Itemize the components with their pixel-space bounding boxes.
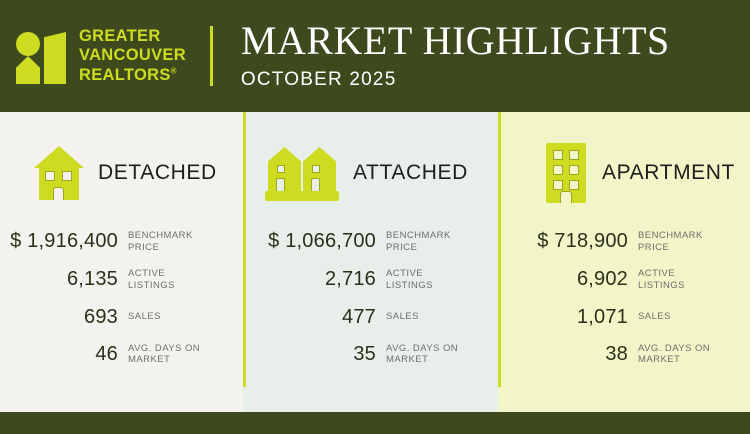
apartment-window	[569, 180, 579, 190]
stat-label: ACTIVE LISTINGS	[386, 268, 481, 292]
apartment-building-icon	[544, 143, 588, 203]
stat-value: 1,071	[498, 306, 638, 329]
stat-row: 35 AVG. DAYS ON MARKET	[243, 343, 498, 367]
panel-attached: ATTACHED $ 1,066,700 BENCHMARK PRICE 2,7…	[243, 112, 498, 412]
market-highlights-infographic: GREATER VANCOUVER REALTORS® MARKET HIGHL…	[0, 0, 750, 434]
stat-label: SALES	[386, 311, 481, 323]
logo-realtors-text: REALTORS	[79, 66, 171, 84]
townhouse-icon	[265, 145, 339, 201]
stat-row: 6,135 ACTIVE LISTINGS	[0, 268, 243, 292]
townhouse-door-left	[276, 178, 285, 192]
panel-apartment-header: APARTMENT	[498, 142, 750, 204]
stat-row: 46 AVG. DAYS ON MARKET	[0, 343, 243, 367]
townhouse-door-right	[311, 178, 320, 192]
stat-value: 35	[251, 343, 386, 366]
logo-line-greater: GREATER	[79, 27, 186, 46]
house-window-left	[45, 171, 55, 181]
panel-apartment-label: APARTMENT	[602, 161, 735, 185]
apartment-window	[569, 165, 579, 175]
stat-value: 6,135	[0, 268, 128, 291]
stat-value: 477	[251, 306, 386, 329]
stat-label: AVG. DAYS ON MARKET	[638, 343, 733, 367]
logo-house-shape	[16, 56, 40, 84]
townhouse-window-left	[277, 165, 285, 173]
stat-label: ACTIVE LISTINGS	[638, 268, 733, 292]
stat-row: 6,902 ACTIVE LISTINGS	[498, 268, 750, 292]
stat-row: 38 AVG. DAYS ON MARKET	[498, 343, 750, 367]
apartment-window	[553, 180, 563, 190]
townhouse-base-shape	[265, 191, 339, 201]
logo-line-realtors: REALTORS®	[79, 66, 186, 85]
stat-label: BENCHMARK PRICE	[386, 230, 481, 254]
gvr-logo: GREATER VANCOUVER REALTORS®	[0, 27, 186, 84]
stat-value: 693	[0, 306, 128, 329]
page-title: MARKET HIGHLIGHTS	[241, 21, 670, 61]
panel-apartment-stats: $ 718,900 BENCHMARK PRICE 6,902 ACTIVE L…	[498, 230, 750, 366]
logo-tower-shape	[44, 32, 66, 84]
stat-value: 38	[498, 343, 638, 366]
panel-divider-right	[498, 112, 501, 387]
stat-label: BENCHMARK PRICE	[128, 230, 223, 254]
panels-container: DETACHED $ 1,916,400 BENCHMARK PRICE 6,1…	[0, 112, 750, 412]
stat-row: $ 1,066,700 BENCHMARK PRICE	[243, 230, 498, 254]
house-door	[53, 187, 64, 200]
stat-value: $ 718,900	[498, 230, 638, 253]
stat-label: SALES	[128, 311, 223, 323]
stat-row: $ 1,916,400 BENCHMARK PRICE	[0, 230, 243, 254]
stat-row: 477 SALES	[243, 306, 498, 329]
registered-trademark-icon: ®	[171, 66, 177, 75]
footer-bar	[0, 412, 750, 434]
apartment-window	[569, 150, 579, 160]
gvr-logo-mark-icon	[16, 28, 66, 84]
stat-value: 2,716	[251, 268, 386, 291]
stat-value: $ 1,916,400	[0, 230, 128, 253]
apartment-door	[560, 191, 572, 203]
stat-label: BENCHMARK PRICE	[638, 230, 733, 254]
header-bar: GREATER VANCOUVER REALTORS® MARKET HIGHL…	[0, 0, 750, 112]
stat-label: ACTIVE LISTINGS	[128, 268, 223, 292]
apartment-window	[553, 165, 563, 175]
stat-value: 6,902	[498, 268, 638, 291]
panel-detached-header: DETACHED	[0, 142, 243, 204]
logo-line-vancouver: VANCOUVER	[79, 46, 186, 65]
stat-row: 1,071 SALES	[498, 306, 750, 329]
stat-label: AVG. DAYS ON MARKET	[128, 343, 223, 367]
panel-apartment: APARTMENT $ 718,900 BENCHMARK PRICE 6,90…	[498, 112, 750, 412]
panel-detached-stats: $ 1,916,400 BENCHMARK PRICE 6,135 ACTIVE…	[0, 230, 243, 366]
panel-detached: DETACHED $ 1,916,400 BENCHMARK PRICE 6,1…	[0, 112, 243, 412]
header-divider	[210, 26, 213, 86]
panel-attached-header: ATTACHED	[243, 142, 498, 204]
stat-label: SALES	[638, 311, 733, 323]
panel-detached-label: DETACHED	[98, 161, 217, 185]
panel-attached-stats: $ 1,066,700 BENCHMARK PRICE 2,716 ACTIVE…	[243, 230, 498, 366]
townhouse-window-right	[312, 165, 320, 173]
page-subtitle: OCTOBER 2025	[241, 69, 670, 91]
stat-value: 46	[0, 343, 128, 366]
panel-divider-left	[243, 112, 246, 387]
stat-label: AVG. DAYS ON MARKET	[386, 343, 481, 367]
house-icon	[34, 146, 84, 200]
apartment-window	[553, 150, 563, 160]
house-window-right	[62, 171, 72, 181]
header-title-block: MARKET HIGHLIGHTS OCTOBER 2025	[241, 21, 670, 91]
panel-attached-label: ATTACHED	[353, 161, 468, 185]
gvr-logo-wordmark: GREATER VANCOUVER REALTORS®	[79, 27, 186, 84]
stat-row: $ 718,900 BENCHMARK PRICE	[498, 230, 750, 254]
logo-circle-shape	[16, 32, 40, 56]
stat-row: 2,716 ACTIVE LISTINGS	[243, 268, 498, 292]
stat-row: 693 SALES	[0, 306, 243, 329]
stat-value: $ 1,066,700	[251, 230, 386, 253]
